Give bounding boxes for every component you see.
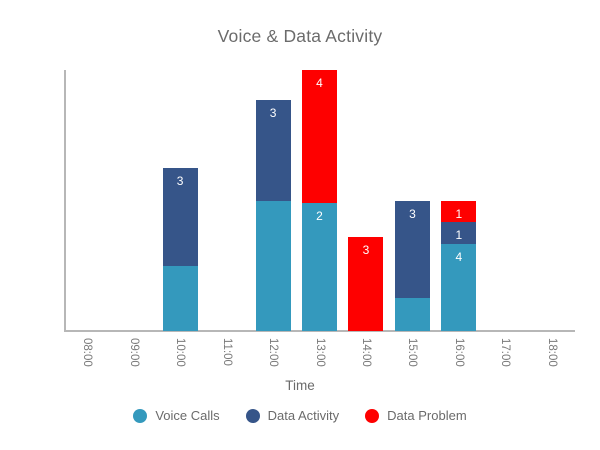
legend-label: Voice Calls — [155, 408, 219, 423]
chart-title: Voice & Data Activity — [0, 26, 600, 47]
legend-swatch-icon — [365, 409, 379, 423]
bar-15-00[interactable]: 3 — [395, 201, 430, 332]
bar-segment[interactable] — [256, 201, 291, 332]
bar-segment-label: 3 — [395, 207, 430, 221]
bar-segment[interactable]: 4 — [302, 70, 337, 203]
bar-segment-label: 3 — [163, 174, 198, 188]
bar-segment-label: 4 — [302, 76, 337, 90]
bar-segment-label: 1 — [441, 207, 476, 221]
legend-item-2[interactable]: Data Problem — [365, 408, 466, 423]
bar-segment[interactable] — [395, 298, 430, 331]
legend-swatch-icon — [133, 409, 147, 423]
bar-segment[interactable]: 3 — [348, 237, 383, 331]
bar-16-00[interactable]: 411 — [441, 201, 476, 332]
chart-legend: Voice CallsData ActivityData Problem — [0, 408, 600, 423]
bar-segment[interactable]: 3 — [163, 168, 198, 266]
legend-label: Data Activity — [268, 408, 340, 423]
bar-segment-label: 3 — [256, 106, 291, 120]
bar-segment[interactable]: 3 — [395, 201, 430, 299]
bar-10-00[interactable]: 3 — [163, 168, 198, 331]
bar-segment-label: 1 — [441, 228, 476, 242]
bar-12-00[interactable]: 3 — [256, 100, 291, 331]
plot-area: 332433411 — [64, 70, 575, 331]
bar-segment[interactable] — [163, 266, 198, 331]
bar-segment[interactable]: 4 — [441, 244, 476, 331]
bar-segment[interactable]: 1 — [441, 222, 476, 244]
legend-swatch-icon — [246, 409, 260, 423]
bar-segment[interactable]: 1 — [441, 201, 476, 223]
legend-label: Data Problem — [387, 408, 466, 423]
legend-item-0[interactable]: Voice Calls — [133, 408, 219, 423]
bar-segment-label: 4 — [441, 250, 476, 264]
legend-item-1[interactable]: Data Activity — [246, 408, 340, 423]
bar-segment-label: 3 — [348, 243, 383, 257]
bar-segment[interactable]: 2 — [302, 203, 337, 331]
x-axis-label: Time — [0, 378, 600, 393]
bar-13-00[interactable]: 24 — [302, 70, 337, 331]
chart-container: Voice & Data Activity 332433411 08:0009:… — [0, 0, 600, 450]
bar-segment-label: 2 — [302, 209, 337, 223]
bar-14-00[interactable]: 3 — [348, 237, 383, 331]
bar-segment[interactable]: 3 — [256, 100, 291, 200]
